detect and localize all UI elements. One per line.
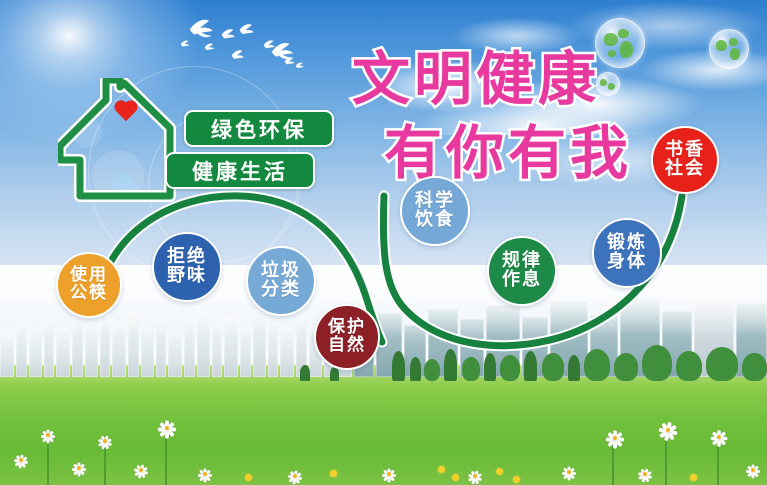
bubble-scientific-diet[interactable]: 科学 饮食 bbox=[400, 176, 470, 246]
bubble-line2: 社会 bbox=[665, 160, 705, 179]
bubble-line2: 公筷 bbox=[70, 285, 108, 303]
poster-title-line1: 文明健康 bbox=[352, 32, 600, 116]
poster-title-line2: 有你有我 bbox=[384, 106, 632, 190]
poster-canvas: 文明健康 有你有我 绿色环保 健康生活 使用 公筷 拒绝 野味 垃圾 分类 保护… bbox=[0, 0, 767, 485]
bubble-reading-society[interactable]: 书香 社会 bbox=[651, 126, 719, 194]
bubble-line2: 野味 bbox=[167, 267, 207, 286]
heart-icon bbox=[113, 101, 139, 125]
bubble-physical-exercise[interactable]: 锻炼 身体 bbox=[592, 218, 662, 288]
bubble-line2: 作息 bbox=[502, 271, 542, 290]
bubble-line2: 分类 bbox=[261, 281, 301, 300]
bubble-line2: 自然 bbox=[328, 337, 366, 355]
bubble-use-serving-chopsticks[interactable]: 使用 公筷 bbox=[56, 252, 122, 318]
bubble-waste-sorting[interactable]: 垃圾 分类 bbox=[246, 246, 316, 316]
banner-green-environment[interactable]: 绿色环保 bbox=[184, 110, 334, 147]
bubble-line2: 饮食 bbox=[415, 211, 455, 230]
bubble-refuse-wild-game[interactable]: 拒绝 野味 bbox=[152, 232, 222, 302]
bubble-line2: 身体 bbox=[607, 253, 647, 272]
banner-healthy-living[interactable]: 健康生活 bbox=[165, 152, 315, 189]
bubble-regular-routine[interactable]: 规律 作息 bbox=[487, 236, 557, 306]
bubble-protect-nature[interactable]: 保护 自然 bbox=[314, 304, 380, 370]
